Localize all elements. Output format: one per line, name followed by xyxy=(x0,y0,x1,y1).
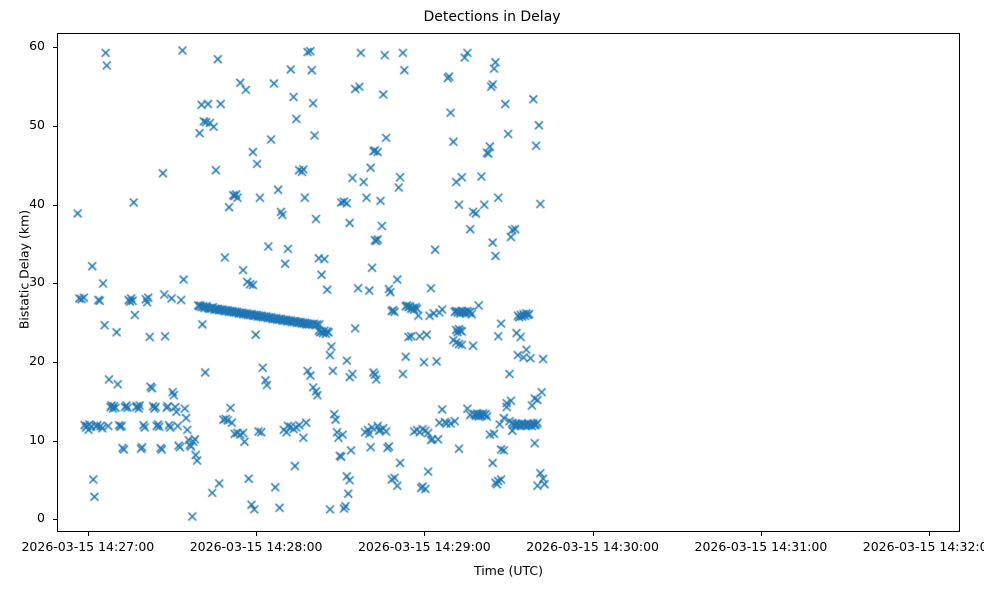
x-tick-label: 2026-03-15 14:30:00 xyxy=(526,540,659,554)
x-tick-label: 2026-03-15 14:31:00 xyxy=(695,540,828,554)
matplotlib-figure: Detections in Delay 0102030405060 2026-0… xyxy=(0,0,984,590)
x-tick-mark xyxy=(256,532,257,536)
y-tick-label: 50 xyxy=(29,119,45,131)
x-tick-label: 2026-03-15 14:29:00 xyxy=(358,540,491,554)
y-tick-label: 60 xyxy=(29,40,45,52)
x-tick-mark xyxy=(929,532,930,536)
scatter-series-detections xyxy=(58,34,960,532)
x-axis-label: Time (UTC) xyxy=(57,563,960,578)
page-title: Detections in Delay xyxy=(0,9,984,25)
y-tick-label: 0 xyxy=(37,512,45,524)
x-tick-mark xyxy=(88,532,89,536)
y-tick-label: 10 xyxy=(29,434,45,446)
x-tick-label: 2026-03-15 14:32:00 xyxy=(863,540,984,554)
plot-area xyxy=(57,33,960,532)
x-tick-label: 2026-03-15 14:28:00 xyxy=(190,540,323,554)
x-tick-mark xyxy=(593,532,594,536)
x-tick-mark xyxy=(424,532,425,536)
y-axis-label: Bistatic Delay (km) xyxy=(17,160,32,380)
x-tick-mark xyxy=(761,532,762,536)
x-tick-label: 2026-03-15 14:27:00 xyxy=(21,540,154,554)
